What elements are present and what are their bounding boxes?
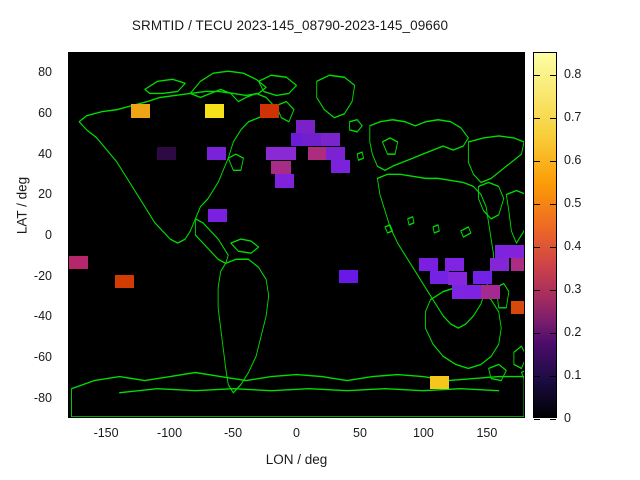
colorbar-tick xyxy=(550,75,556,76)
colorbar-tick-label: 0.1 xyxy=(564,368,581,382)
heatmap-cell xyxy=(511,258,525,271)
y-axis-label: LAT / deg xyxy=(15,146,30,266)
x-tick-label: 100 xyxy=(413,426,434,440)
colorbar-tick xyxy=(550,419,556,420)
colorbar-tick xyxy=(550,333,556,334)
x-tick-label: -150 xyxy=(94,426,119,440)
x-axis-label: LON / deg xyxy=(68,452,525,467)
y-tick-label: -60 xyxy=(34,350,52,364)
colorbar-tick xyxy=(534,376,540,377)
heatmap-cell xyxy=(69,256,88,269)
heatmap-cells xyxy=(69,53,524,417)
colorbar-tick xyxy=(534,247,540,248)
heatmap-cell xyxy=(445,258,464,271)
figure-canvas: SRMTID / TECU 2023-145_08790-2023-145_09… xyxy=(0,0,640,480)
y-tick-label: -40 xyxy=(34,309,52,323)
colorbar-tick xyxy=(550,247,556,248)
colorbar-tick xyxy=(534,118,540,119)
heatmap-cell xyxy=(473,271,492,284)
heatmap-cell xyxy=(419,258,438,271)
colorbar-tick xyxy=(550,161,556,162)
heatmap-cell xyxy=(207,147,226,160)
colorbar-tick-label: 0.2 xyxy=(564,325,581,339)
heatmap-cell xyxy=(208,209,227,222)
colorbar-tick-label: 0.5 xyxy=(564,196,581,210)
heatmap-cell xyxy=(321,133,340,146)
heatmap-cell xyxy=(448,272,467,285)
colorbar-tick-label: 0.8 xyxy=(564,67,581,81)
heatmap-cell xyxy=(296,120,315,133)
colorbar-tick-label: 0.6 xyxy=(564,153,581,167)
heatmap-cell xyxy=(277,147,296,160)
colorbar-tick xyxy=(534,290,540,291)
x-tick-label: -50 xyxy=(224,426,242,440)
x-tick-label: 0 xyxy=(293,426,300,440)
heatmap-cell xyxy=(157,147,176,160)
colorbar-tick xyxy=(550,204,556,205)
heatmap-cell xyxy=(205,104,224,117)
heatmap-cell xyxy=(326,147,345,160)
heatmap-cell xyxy=(339,270,358,283)
heatmap-cell xyxy=(331,160,350,173)
colorbar-tick xyxy=(534,333,540,334)
heatmap-cell xyxy=(115,275,134,288)
heatmap-cell xyxy=(463,285,482,298)
colorbar-tick-label: 0 xyxy=(564,411,571,425)
heatmap-cell xyxy=(481,285,500,298)
heatmap-cell xyxy=(260,104,279,117)
colorbar[interactable] xyxy=(533,52,557,418)
colorbar-tick xyxy=(534,419,540,420)
y-tick-label: -80 xyxy=(34,391,52,405)
heatmap-cell xyxy=(308,147,327,160)
heatmap-cell xyxy=(430,271,449,284)
y-tick-label: 60 xyxy=(38,106,52,120)
colorbar-tick xyxy=(550,376,556,377)
colorbar-tick-label: 0.7 xyxy=(564,110,581,124)
x-tick-label: -100 xyxy=(157,426,182,440)
heatmap-cell xyxy=(430,376,449,389)
heatmap-cell xyxy=(506,245,525,258)
colorbar-tick xyxy=(534,75,540,76)
heatmap-cell xyxy=(271,161,290,174)
colorbar-tick xyxy=(534,161,540,162)
x-tick-label: 150 xyxy=(476,426,497,440)
colorbar-tick-labels: 00.10.20.30.40.50.60.70.8 xyxy=(560,52,620,418)
heatmap-cell xyxy=(511,301,525,314)
colorbar-tick xyxy=(534,204,540,205)
heatmap-cell xyxy=(302,133,321,146)
heatmap-cell xyxy=(275,174,294,187)
colorbar-tick xyxy=(550,290,556,291)
x-axis-ticks: -150-100-50050100150 xyxy=(68,424,525,444)
y-tick-label: -20 xyxy=(34,269,52,283)
y-tick-label: 20 xyxy=(38,187,52,201)
y-tick-label: 0 xyxy=(45,228,52,242)
y-axis-ticks: -80-60-40-20020406080 xyxy=(0,52,60,418)
x-tick-label: 50 xyxy=(353,426,367,440)
chart-title: SRMTID / TECU 2023-145_08790-2023-145_09… xyxy=(0,18,580,33)
map-plot-area[interactable] xyxy=(68,52,525,418)
colorbar-gradient xyxy=(534,53,556,417)
colorbar-tick-label: 0.3 xyxy=(564,282,581,296)
heatmap-cell xyxy=(490,258,509,271)
y-tick-label: 80 xyxy=(38,65,52,79)
colorbar-tick xyxy=(550,118,556,119)
colorbar-tick-label: 0.4 xyxy=(564,239,581,253)
y-tick-label: 40 xyxy=(38,147,52,161)
heatmap-cell xyxy=(131,104,150,117)
